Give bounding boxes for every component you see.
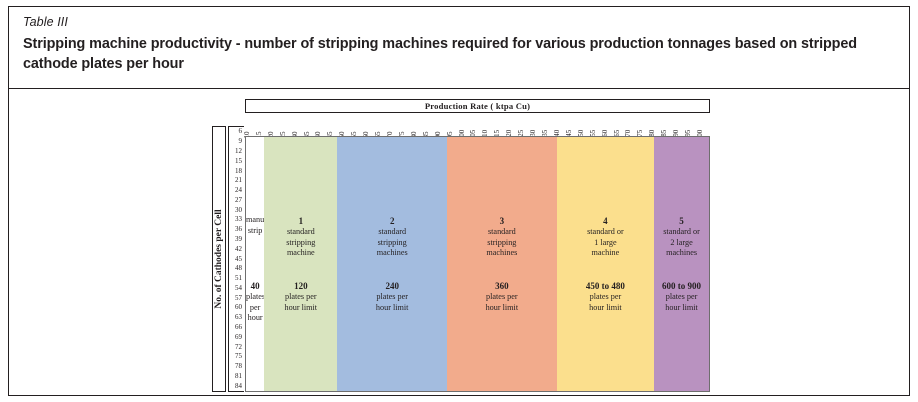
band-machine-count: 3 bbox=[447, 215, 557, 227]
band-rate-value: 240 bbox=[337, 280, 447, 292]
chart-band-three-machines[interactable]: 3standardstrippingmachines360plates perh… bbox=[447, 137, 557, 391]
table-figure: Table III Stripping machine productivity… bbox=[8, 6, 910, 396]
y-axis-tick: 27 bbox=[229, 195, 244, 205]
chart-area: No. of Cathodes per Cell 691215182124273… bbox=[9, 90, 909, 396]
band-description-line: machine bbox=[264, 248, 337, 259]
chart-band-one-machine[interactable]: 1standardstrippingmachine120plates perho… bbox=[264, 137, 337, 391]
y-axis-tick: 60 bbox=[229, 303, 244, 313]
band-rate-value: 450 to 480 bbox=[557, 280, 654, 292]
y-axis-tick: 78 bbox=[229, 362, 244, 372]
band-description-line: machines bbox=[337, 248, 447, 259]
chart-band-manual[interactable]: manualstrip40platesperhour bbox=[246, 137, 264, 391]
band-rate-unit-line: hour limit bbox=[557, 303, 654, 314]
band-description-line: standard bbox=[447, 227, 557, 238]
band-rate-unit-line: plates per bbox=[264, 292, 337, 303]
plot-body: manualstrip40platesperhour1standardstrip… bbox=[245, 136, 710, 392]
band-machine-count: 1 bbox=[264, 215, 337, 227]
band-rate-unit-line: plates bbox=[246, 292, 264, 303]
band-rate-value: 40 bbox=[246, 280, 264, 292]
y-axis-tick: 39 bbox=[229, 235, 244, 245]
band-description-line: 1 large bbox=[557, 238, 654, 249]
band-description-line: standard bbox=[337, 227, 447, 238]
y-axis-tick: 6 bbox=[229, 127, 244, 137]
band-machine-label: 5standard or2 largemachines bbox=[654, 215, 709, 259]
x-axis-tick-labels: 1015202530354045505560657075808590951001… bbox=[245, 114, 710, 136]
y-axis-tick: 54 bbox=[229, 284, 244, 294]
band-rate-unit-line: plates per bbox=[447, 292, 557, 303]
band-description-line: manual bbox=[246, 215, 264, 226]
y-axis-tick: 21 bbox=[229, 176, 244, 186]
band-rate-unit-line: per bbox=[246, 303, 264, 314]
band-description-line: machines bbox=[447, 248, 557, 259]
band-description-line: standard or bbox=[557, 227, 654, 238]
band-rate-label: 450 to 480plates perhour limit bbox=[557, 280, 654, 313]
band-rate-label: 120plates perhour limit bbox=[264, 280, 337, 313]
band-description-line: stripping bbox=[337, 238, 447, 249]
band-description-line: 2 large bbox=[654, 238, 709, 249]
y-axis-tick: 36 bbox=[229, 225, 244, 235]
y-axis-tick: 42 bbox=[229, 244, 244, 254]
y-axis-tick: 84 bbox=[229, 381, 244, 391]
band-rate-label: 600 to 900plates perhour limit bbox=[654, 280, 709, 313]
band-rate-label: 40platesperhour bbox=[246, 280, 264, 324]
y-axis-title: No. of Cathodes per Cell bbox=[214, 209, 224, 308]
x-axis-tick: 200 bbox=[698, 114, 710, 136]
chart-band-two-machines[interactable]: 2standardstrippingmachines240plates perh… bbox=[337, 137, 447, 391]
page-title: Stripping machine productivity - number … bbox=[23, 34, 895, 74]
band-rate-label: 360plates perhour limit bbox=[447, 280, 557, 313]
y-axis-tick: 75 bbox=[229, 352, 244, 362]
band-description-line: standard or bbox=[654, 227, 709, 238]
y-axis-tick: 81 bbox=[229, 372, 244, 382]
band-description-line: machines bbox=[654, 248, 709, 259]
y-axis-tick: 12 bbox=[229, 147, 244, 157]
band-machine-count: 4 bbox=[557, 215, 654, 227]
band-machine-label: 1standardstrippingmachine bbox=[264, 215, 337, 259]
chart-band-four-machines[interactable]: 4standard or1 largemachine450 to 480plat… bbox=[557, 137, 654, 391]
band-machine-label: manualstrip bbox=[246, 215, 264, 236]
y-axis-tick: 33 bbox=[229, 215, 244, 225]
band-machine-label: 4standard or1 largemachine bbox=[557, 215, 654, 259]
y-axis-tick: 24 bbox=[229, 186, 244, 196]
y-axis-tick: 57 bbox=[229, 293, 244, 303]
band-rate-value: 360 bbox=[447, 280, 557, 292]
y-axis-tick-labels: 6912151821242730333639424548515457606366… bbox=[228, 126, 244, 392]
y-axis-tick: 9 bbox=[229, 137, 244, 147]
band-rate-value: 600 to 900 bbox=[654, 280, 709, 292]
y-axis-tick: 18 bbox=[229, 166, 244, 176]
y-axis-title-box: No. of Cathodes per Cell bbox=[212, 126, 226, 392]
band-rate-unit-line: hour limit bbox=[264, 303, 337, 314]
band-description-line: standard bbox=[264, 227, 337, 238]
band-rate-label: 240plates perhour limit bbox=[337, 280, 447, 313]
band-rate-unit-line: plates per bbox=[654, 292, 709, 303]
band-rate-unit-line: hour limit bbox=[447, 303, 557, 314]
band-description-line: machine bbox=[557, 248, 654, 259]
y-axis-tick: 63 bbox=[229, 313, 244, 323]
y-axis-tick: 69 bbox=[229, 332, 244, 342]
y-axis-tick: 51 bbox=[229, 274, 244, 284]
band-rate-unit-line: hour limit bbox=[654, 303, 709, 314]
band-rate-value: 120 bbox=[264, 280, 337, 292]
y-axis-tick: 30 bbox=[229, 205, 244, 215]
band-machine-label: 2standardstrippingmachines bbox=[337, 215, 447, 259]
band-machine-count: 2 bbox=[337, 215, 447, 227]
y-axis-tick: 72 bbox=[229, 342, 244, 352]
y-axis-tick: 45 bbox=[229, 254, 244, 264]
chart-band-five-machines[interactable]: 5standard or2 largemachines600 to 900pla… bbox=[654, 137, 709, 391]
table-number: Table III bbox=[23, 15, 895, 30]
band-description-line: strip bbox=[246, 226, 264, 237]
band-rate-unit-line: plates per bbox=[557, 292, 654, 303]
band-rate-unit-line: plates per bbox=[337, 292, 447, 303]
band-description-line: stripping bbox=[447, 238, 557, 249]
x-axis-title-box: Production Rate ( ktpa Cu) bbox=[245, 99, 710, 113]
y-axis-tick: 15 bbox=[229, 156, 244, 166]
band-rate-unit-line: hour bbox=[246, 313, 264, 324]
band-machine-count: 5 bbox=[654, 215, 709, 227]
band-machine-label: 3standardstrippingmachines bbox=[447, 215, 557, 259]
y-axis-tick: 66 bbox=[229, 323, 244, 333]
band-description-line: stripping bbox=[264, 238, 337, 249]
band-rate-unit-line: hour limit bbox=[337, 303, 447, 314]
y-axis-tick: 48 bbox=[229, 264, 244, 274]
x-axis-title: Production Rate ( ktpa Cu) bbox=[425, 101, 530, 111]
caption-block: Table III Stripping machine productivity… bbox=[9, 7, 909, 89]
